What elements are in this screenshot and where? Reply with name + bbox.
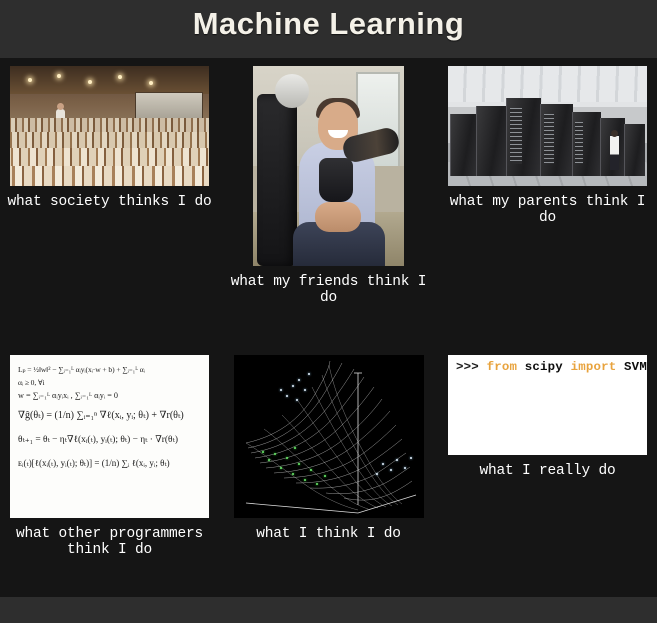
- data-point: [280, 389, 282, 391]
- person-hands: [315, 202, 361, 232]
- keyword-from: from: [487, 360, 518, 374]
- equation-line-5: θₜ₊₁ = θₜ − ηₜ∇ℓ(xᵢ(ₜ), yᵢ(ₜ); θₜ) − ηₜ …: [18, 428, 203, 452]
- data-point: [304, 479, 306, 481]
- image-programmers-think: Lₚ = ½‖w‖² − ∑ᵢ₌₁ᴸ αᵢyᵢ(xᵢ·w + b) + ∑ᵢ₌₁…: [10, 355, 209, 518]
- caption-friends: what my friends think I do: [219, 274, 438, 306]
- cell-parents: what my parents think I do: [438, 66, 657, 226]
- robot-row: [10, 148, 209, 168]
- equation-line-3: w = ∑ᵢ₌₁ᴸ αᵢyᵢxᵢ , ∑ᵢ₌₁ᴸ αᵢyᵢ = 0: [18, 389, 203, 403]
- image-friends-think: [253, 66, 404, 266]
- cell-friends: what my friends think I do: [219, 66, 438, 306]
- data-point: [376, 473, 378, 475]
- imported-symbol: SVM: [624, 360, 647, 374]
- console-prompt: >>>: [456, 360, 479, 374]
- rack-vent: [575, 122, 583, 164]
- data-point: [304, 389, 306, 391]
- data-point: [382, 463, 384, 465]
- technician: [610, 136, 619, 170]
- caption-parents: what my parents think I do: [438, 194, 657, 226]
- equation-line-1: Lₚ = ½‖w‖² − ∑ᵢ₌₁ᴸ αᵢyᵢ(xᵢ·w + b) + ∑ᵢ₌₁…: [18, 363, 203, 376]
- equation-line-6: ᴇᵢ(ₜ)[ℓ(xᵢ(ₜ), yᵢ(ₜ); θₜ)] = (1/n) ∑ᵢ ℓ(…: [18, 452, 203, 474]
- cell-ithink: what I think I do: [219, 355, 438, 542]
- server-rack: [624, 124, 645, 176]
- rack-vent: [510, 108, 522, 164]
- robot-body: [257, 94, 297, 266]
- svm-surface-plot: [234, 355, 424, 518]
- data-point: [292, 385, 294, 387]
- data-point: [280, 467, 282, 469]
- robot-hand: [319, 158, 353, 202]
- cell-programmers: Lₚ = ½‖w‖² − ∑ᵢ₌₁ᴸ αᵢyᵢ(xᵢ·w + b) + ∑ᵢ₌₁…: [0, 355, 219, 558]
- meme-canvas: Machine Learning what society thinks I d…: [0, 0, 657, 623]
- image-i-think-i-do: [234, 355, 424, 518]
- ceiling-lamp-icon: [149, 81, 153, 85]
- server-rack: [476, 106, 507, 176]
- data-point: [316, 483, 318, 485]
- hall-ceiling: [10, 66, 209, 94]
- module-name: scipy: [525, 360, 563, 374]
- ceiling-lamp-icon: [88, 80, 92, 84]
- ceiling-lamp-icon: [28, 78, 32, 82]
- data-point: [296, 399, 298, 401]
- data-point: [274, 453, 276, 455]
- data-point: [294, 447, 296, 449]
- data-point: [298, 463, 300, 465]
- robot-row: [10, 166, 209, 186]
- caption-society: what society thinks I do: [0, 194, 219, 210]
- robot-head: [275, 74, 309, 108]
- data-point: [298, 379, 300, 381]
- data-point: [292, 473, 294, 475]
- console-line: >>> from scipy import SVM: [456, 360, 647, 374]
- data-point: [324, 475, 326, 477]
- data-point: [268, 459, 270, 461]
- image-parents-think: [448, 66, 647, 186]
- caption-ithink: what I think I do: [219, 526, 438, 542]
- caption-really: what I really do: [438, 463, 657, 479]
- cell-society: what society thinks I do: [0, 66, 219, 210]
- data-point: [396, 459, 398, 461]
- caption-programmers: what other programmers think I do: [0, 526, 219, 558]
- keyword-import: import: [571, 360, 617, 374]
- server-rack: [450, 114, 477, 176]
- data-point: [410, 457, 412, 459]
- server-room-ceiling: [448, 66, 647, 102]
- data-point: [286, 457, 288, 459]
- data-point: [308, 373, 310, 375]
- equation-block: Lₚ = ½‖w‖² − ∑ᵢ₌₁ᴸ αᵢyᵢ(xᵢ·w + b) + ∑ᵢ₌₁…: [18, 363, 203, 512]
- data-point: [310, 469, 312, 471]
- equation-line-4: ∇ĝ(θₜ) = (1/n) ∑ᵢ₌₁ⁿ ∇ℓ(xᵢ, yᵢ; θₜ) + ∇r…: [18, 403, 203, 428]
- ceiling-lamp-icon: [57, 74, 61, 78]
- page-title: Machine Learning: [0, 2, 657, 46]
- image-society-thinks: [10, 66, 209, 186]
- ceiling-lamp-icon: [118, 75, 122, 79]
- data-point: [262, 451, 264, 453]
- data-point: [286, 395, 288, 397]
- data-point: [390, 469, 392, 471]
- footer-band: [0, 597, 657, 623]
- data-point: [404, 467, 406, 469]
- rack-vent: [544, 114, 554, 164]
- cell-really: >>> from scipy import SVM what I really …: [438, 355, 657, 479]
- image-what-i-really-do: >>> from scipy import SVM: [448, 355, 647, 455]
- equation-line-2: αᵢ ≥ 0, ∀i: [18, 376, 203, 389]
